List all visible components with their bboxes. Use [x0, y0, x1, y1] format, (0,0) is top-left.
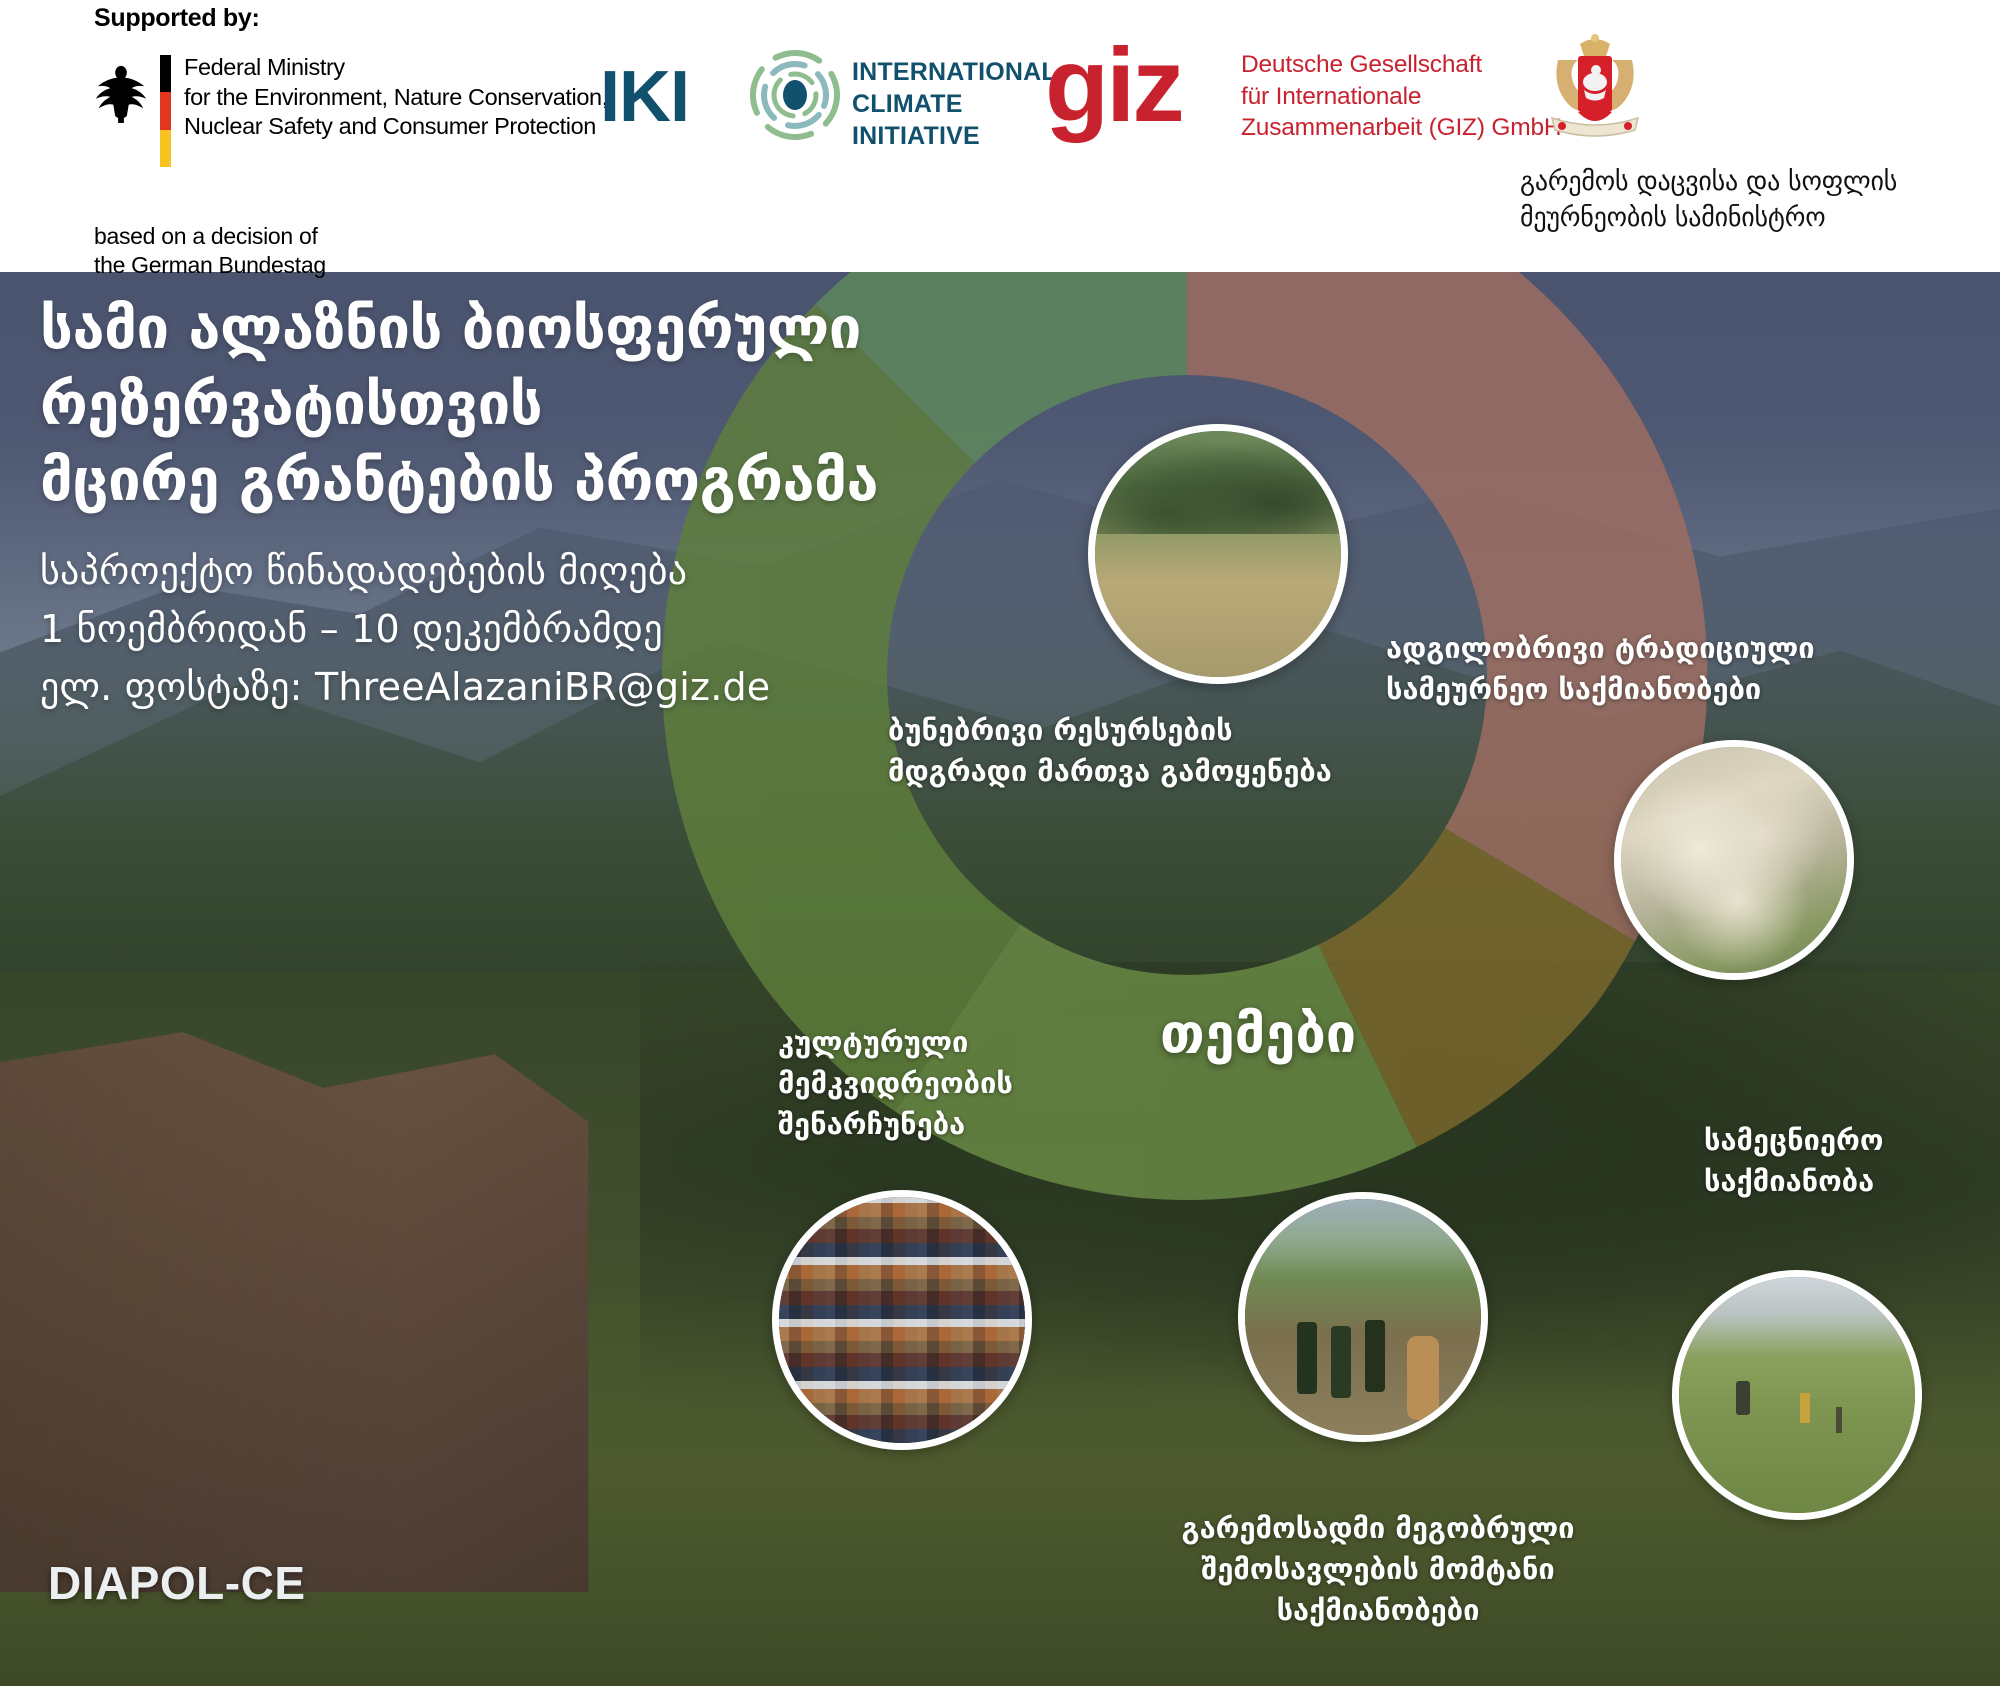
- wheel-label-science: სამეცნიერო საქმიანობა: [1704, 1120, 1964, 1202]
- diapol-ce-logo: DIAPOL-CE: [48, 1556, 306, 1610]
- field-research-photo: [1672, 1270, 1922, 1520]
- wine-products-photo: [1238, 1192, 1488, 1442]
- federal-ministry-line-3: Nuclear Safety and Consumer Protection: [184, 112, 608, 142]
- iki-line-2: CLIMATE: [852, 88, 1057, 120]
- wheel-label-income: გარემოსადმი მეგობრული შემოსავლების მომტა…: [1118, 1508, 1638, 1631]
- wine-products-photo-image: [1245, 1199, 1481, 1435]
- georgia-coat-of-arms-icon: [1540, 26, 1650, 144]
- traditional-carpet-photo-image: [779, 1197, 1025, 1443]
- bundestag-note-line-2: the German Bundestag: [94, 251, 326, 280]
- supported-by-label: Supported by:: [94, 4, 260, 33]
- federal-ministry-line-2: for the Environment, Nature Conservation…: [184, 83, 608, 113]
- call-details-line-2: 1 ნოემბრიდან – 10 დეკემბრამდე: [40, 600, 1040, 658]
- federal-ministry-line-1: Federal Ministry: [184, 53, 608, 83]
- giz-line-3: Zusammenarbeit (GIZ) GmbH: [1241, 112, 1561, 144]
- iki-text: INTERNATIONAL CLIMATE INITIATIVE: [852, 56, 1057, 152]
- bundestag-note-line-1: based on a decision of: [94, 222, 326, 251]
- iki-wordmark: IKI: [600, 56, 689, 138]
- traditional-carpet-photo: [772, 1190, 1032, 1450]
- federal-ministry-text: Federal Ministry for the Environment, Na…: [184, 53, 608, 142]
- georgian-ministry-line-1: გარემოს დაცვისა და სოფლის: [1520, 164, 1970, 200]
- poster-root: Supported by: Federal Ministry for the E…: [0, 0, 2000, 1686]
- call-details-line-3: ელ. ფოსტაზე: ThreeAlazaniBR@giz.de: [40, 658, 1040, 716]
- wheel-label-nature: ბუნებრივი რესურსების მდგრადი მართვა გამო…: [888, 710, 1348, 792]
- iki-line-1: INTERNATIONAL: [852, 56, 1057, 88]
- giz-wordmark: giz: [1045, 26, 1182, 146]
- german-flag-bars-icon: [160, 55, 171, 167]
- giz-logo: giz Deutsche Gesellschaft für Internatio…: [1045, 38, 1565, 148]
- donor-header-bar: Supported by: Federal Ministry for the E…: [0, 0, 2000, 272]
- call-details-line-1: საპროექტო წინადადებების მიღება: [40, 542, 1040, 600]
- giz-line-2: für Internationale: [1241, 81, 1561, 113]
- wheel-center-label: თემები: [1160, 1002, 1356, 1065]
- sheep-grazing-photo-image: [1621, 747, 1847, 973]
- sheep-grazing-photo: [1614, 740, 1854, 980]
- wheel-label-culture: კულტურული მემკვიდრეობის შენარჩუნება: [778, 1022, 1108, 1145]
- giz-text: Deutsche Gesellschaft für Internationale…: [1241, 49, 1561, 144]
- giz-line-1: Deutsche Gesellschaft: [1241, 49, 1561, 81]
- call-details: საპროექტო წინადადებების მიღება 1 ნოემბრი…: [40, 542, 1040, 716]
- iki-line-3: INITIATIVE: [852, 120, 1057, 152]
- georgian-ministry-text: გარემოს დაცვისა და სოფლის მეურნეობის სამ…: [1520, 164, 1970, 236]
- page-title-line-1: სამი ალაზნის ბიოსფერული რეზერვატისთვის: [40, 290, 1170, 442]
- federal-ministry-logo: Federal Ministry for the Environment, Na…: [92, 55, 552, 165]
- iki-concentric-circles-icon: [750, 50, 840, 140]
- iki-logo: IKI INTERNATIONAL CLIMATE INITIATIVE: [600, 48, 1000, 143]
- wheel-label-traditional: ადგილობრივი ტრადიციული სამეურნეო საქმიან…: [1386, 628, 1816, 710]
- page-title-line-2: მცირე გრანტების პროგრამა: [40, 442, 1170, 518]
- page-title: სამი ალაზნის ბიოსფერული რეზერვატისთვის მ…: [40, 290, 1170, 518]
- german-eagle-icon: [92, 59, 150, 125]
- field-research-photo-image: [1679, 1277, 1915, 1513]
- georgian-ministry-logo: გარემოს დაცვისა და სოფლის მეურნეობის სამ…: [1520, 26, 1980, 236]
- georgian-ministry-line-2: მეურნეობის სამინისტრო: [1520, 200, 1970, 236]
- bundestag-note: based on a decision of the German Bundes…: [94, 222, 326, 280]
